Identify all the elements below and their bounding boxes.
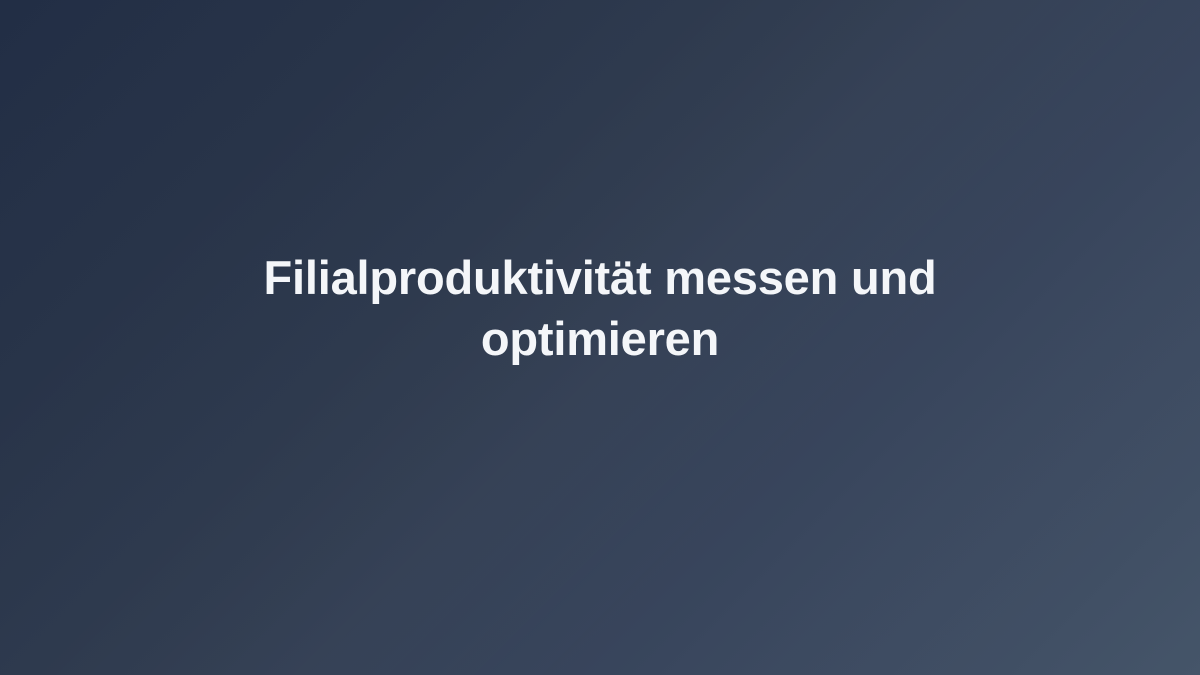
title-block: Filialproduktivität messen und optimiere… xyxy=(220,248,980,368)
page-title: Filialproduktivität messen und optimiere… xyxy=(220,248,980,368)
slide-canvas: Filialproduktivität messen und optimiere… xyxy=(0,0,1200,675)
